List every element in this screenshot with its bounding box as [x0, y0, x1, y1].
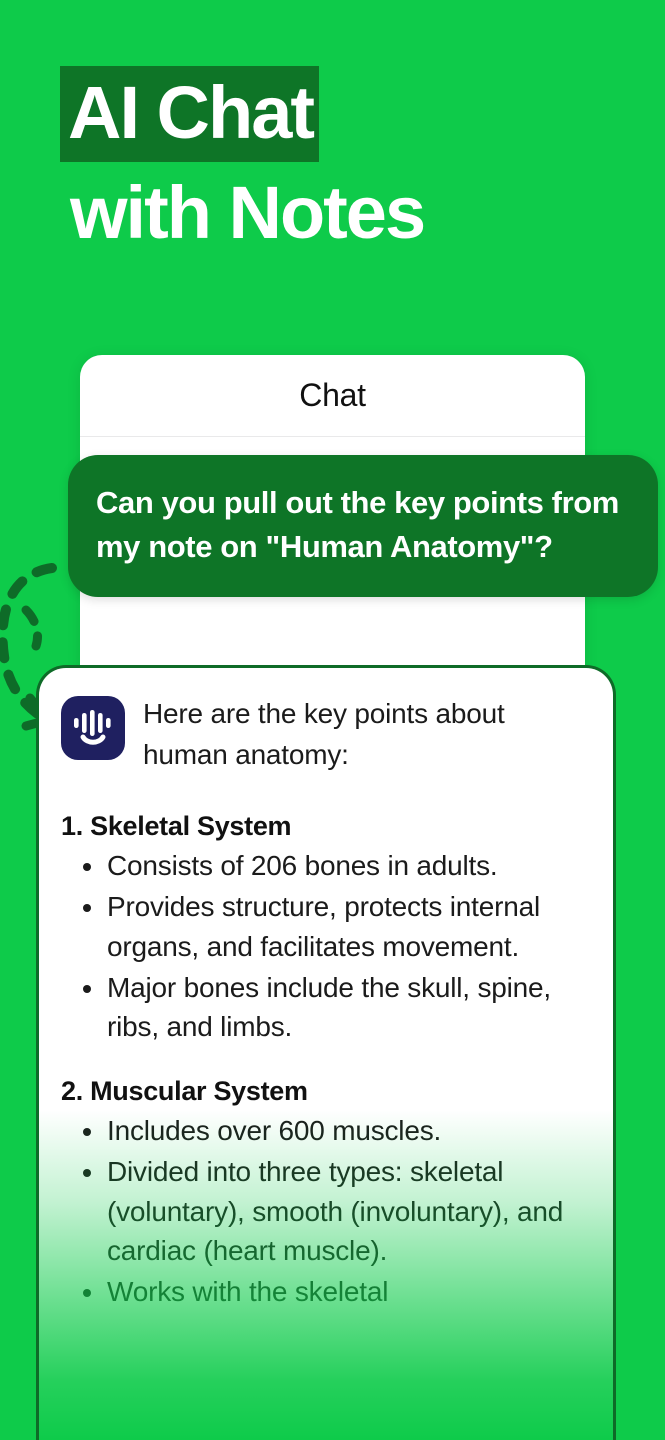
list-item: Consists of 206 bones in adults. — [73, 846, 587, 885]
headline-line-2: with Notes — [64, 176, 624, 250]
list-item: Major bones include the skull, spine, ri… — [73, 968, 587, 1046]
list-item: Includes over 600 muscles. — [73, 1111, 587, 1150]
headline-line-1: AI Chat — [60, 66, 319, 162]
page-headline: AI Chat with Notes — [64, 66, 624, 250]
list-item: Works with the skeletal — [73, 1272, 587, 1311]
assistant-response-card[interactable]: Here are the key points about human anat… — [36, 665, 616, 1440]
section-heading: 2. Muscular System — [61, 1076, 587, 1107]
assistant-intro-text: Here are the key points about human anat… — [143, 690, 587, 775]
list-item: Provides structure, protects internal or… — [73, 887, 587, 965]
section-bullet-list: Includes over 600 muscles. Divided into … — [61, 1111, 587, 1311]
chat-title: Chat — [299, 377, 365, 414]
user-message-bubble[interactable]: Can you pull out the key points from my … — [68, 455, 658, 597]
assistant-answer-body: 1. Skeletal System Consists of 206 bones… — [61, 811, 587, 1311]
section-heading: 1. Skeletal System — [61, 811, 587, 842]
chat-screen-header: Chat — [80, 355, 585, 437]
list-item: Divided into three types: skeletal (volu… — [73, 1152, 587, 1270]
user-message-text: Can you pull out the key points from my … — [96, 481, 628, 569]
section-bullet-list: Consists of 206 bones in adults. Provide… — [61, 846, 587, 1046]
waveform-smile-icon — [61, 696, 125, 760]
